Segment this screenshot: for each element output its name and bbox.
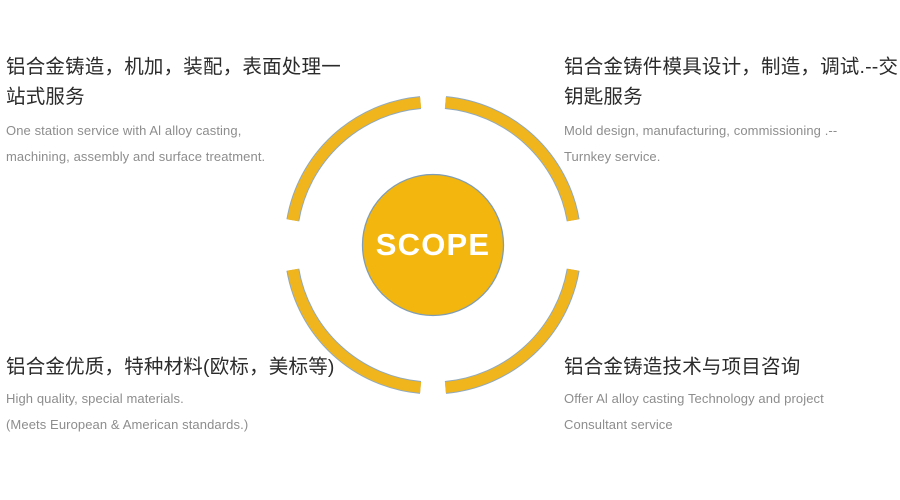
body-line-bottom-left-2: (Meets European & American standards.): [6, 412, 356, 438]
text-block-bottom-right: 铝合金铸造技术与项目咨询 Offer Al alloy casting Tech…: [564, 352, 900, 438]
body-line-top-right-1: Mold design, manufacturing, commissionin…: [564, 118, 900, 144]
body-line-bottom-right-2: Consultant service: [564, 412, 900, 438]
body-line-top-right-2: Turnkey service.: [564, 144, 900, 170]
body-line-top-left-2: machining, assembly and surface treatmen…: [6, 144, 356, 170]
heading-top-left: 铝合金铸造，机加，装配，表面处理一站式服务: [6, 52, 356, 112]
scope-center-circle: [363, 175, 504, 316]
text-block-bottom-left: 铝合金优质，特种材料(欧标，美标等) High quality, special…: [6, 352, 356, 438]
heading-bottom-left: 铝合金优质，特种材料(欧标，美标等): [6, 352, 356, 382]
heading-top-right: 铝合金铸件模具设计，制造，调试.--交钥匙服务: [564, 52, 900, 112]
heading-bottom-right: 铝合金铸造技术与项目咨询: [564, 352, 900, 382]
text-block-top-right: 铝合金铸件模具设计，制造，调试.--交钥匙服务 Mold design, man…: [564, 52, 900, 170]
body-line-bottom-right-1: Offer Al alloy casting Technology and pr…: [564, 386, 900, 412]
body-line-top-left-1: One station service with Al alloy castin…: [6, 118, 356, 144]
text-block-top-left: 铝合金铸造，机加，装配，表面处理一站式服务 One station servic…: [6, 52, 356, 170]
body-line-bottom-left-1: High quality, special materials.: [6, 386, 356, 412]
infographic-canvas: SCOPE 铝合金铸造，机加，装配，表面处理一站式服务 One station …: [0, 0, 900, 500]
